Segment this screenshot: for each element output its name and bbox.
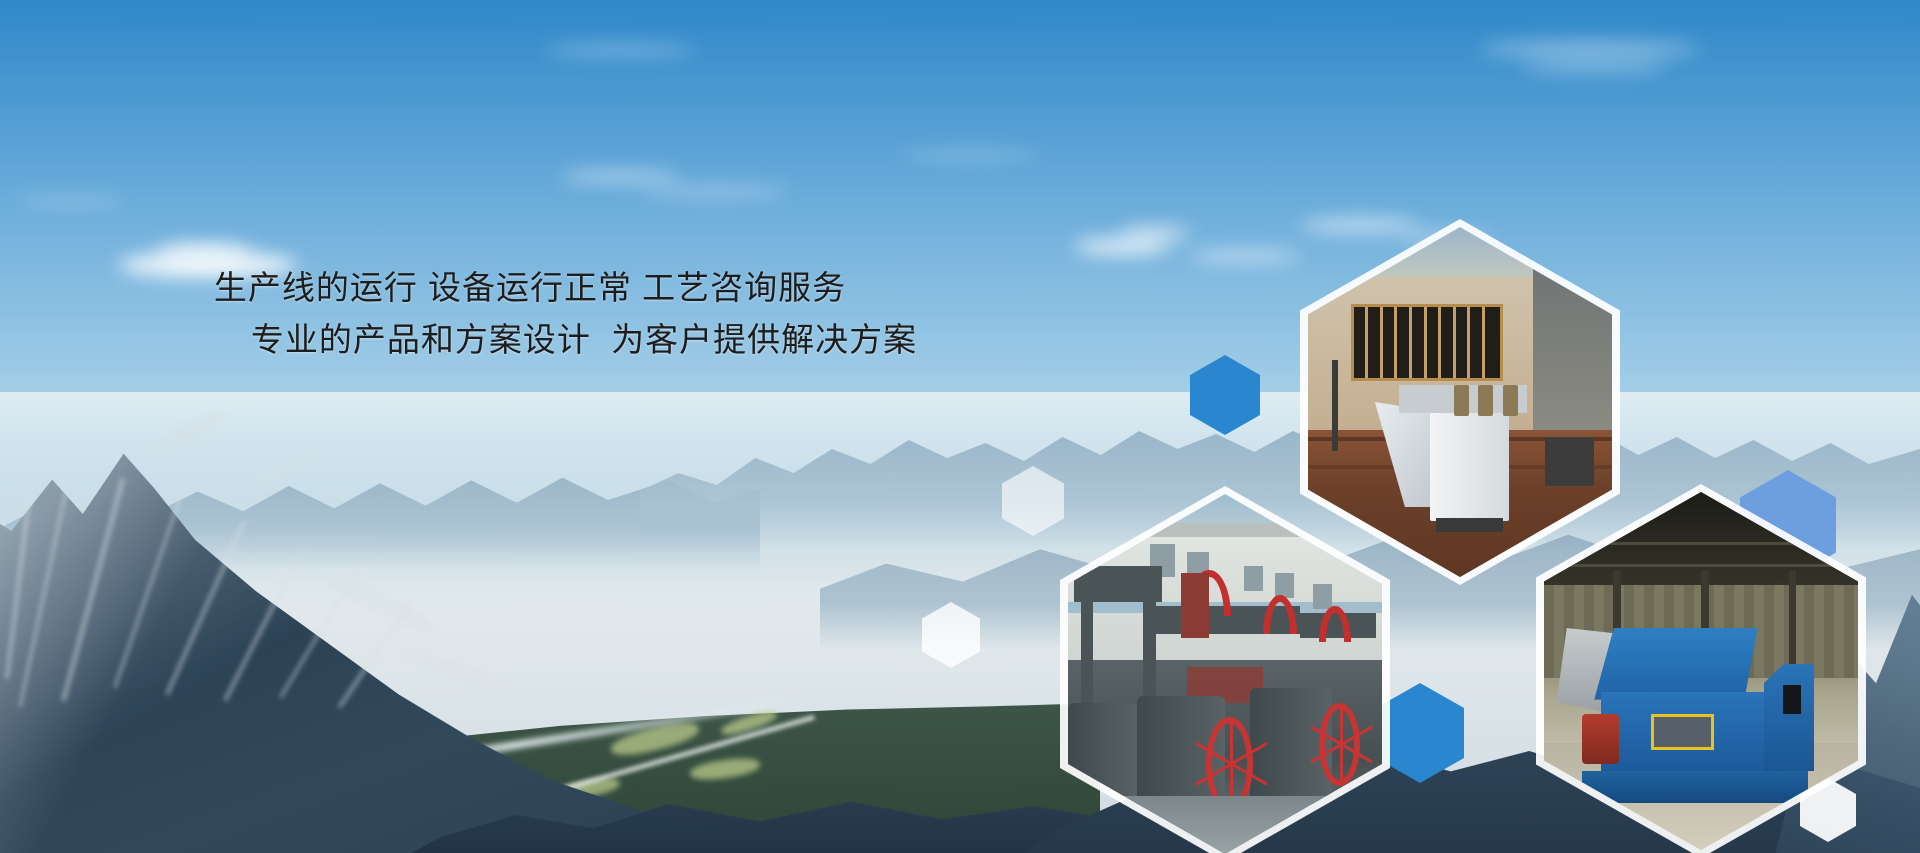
cloud-icon — [16, 196, 126, 205]
cloud-icon — [1190, 250, 1300, 263]
yellow-frame-panel — [1651, 714, 1714, 750]
factory-window — [1244, 566, 1263, 591]
utility-pole — [1332, 360, 1338, 451]
red-valve-wheel — [1319, 703, 1360, 786]
cloud-icon — [1520, 60, 1670, 74]
motor-assembly — [1582, 714, 1620, 764]
cloud-icon — [560, 170, 680, 183]
cloud-icon — [900, 150, 1040, 160]
red-cylinder — [1181, 573, 1209, 638]
cloud-icon — [1120, 226, 1190, 241]
bolt-flange — [1478, 385, 1493, 417]
storage-bin — [1545, 437, 1594, 486]
cloud-icon — [640, 186, 790, 197]
bolt-flange — [1454, 385, 1469, 417]
cloud-icon — [1480, 40, 1700, 58]
cloud-icon — [545, 44, 695, 56]
factory-window — [1313, 584, 1332, 609]
housing-window — [1783, 685, 1802, 714]
headline-line-2: 专业的产品和方案设计 为客户提供解决方案 — [0, 314, 1060, 366]
cloud-icon — [156, 243, 252, 263]
banner-headline: 生产线的运行 设备运行正常 工艺咨询服务 专业的产品和方案设计 为客户提供解决方… — [0, 262, 1060, 366]
roof-truss — [1569, 564, 1833, 567]
barred-window — [1351, 304, 1503, 381]
shredder-base-frame — [1582, 771, 1808, 803]
bolt-flange — [1503, 385, 1518, 417]
headline-line-1: 生产线的运行 设备运行正常 工艺咨询服务 — [0, 262, 1060, 314]
machine-body — [1430, 402, 1509, 521]
cloud-icon — [1300, 218, 1420, 233]
hero-banner: 生产线的运行 设备运行正常 工艺咨询服务 专业的产品和方案设计 为客户提供解决方… — [0, 0, 1920, 853]
roof-truss — [1557, 542, 1846, 545]
machine-feet — [1436, 518, 1503, 532]
shredder-hopper — [1594, 628, 1757, 700]
shredder-drive-housing — [1764, 664, 1814, 771]
